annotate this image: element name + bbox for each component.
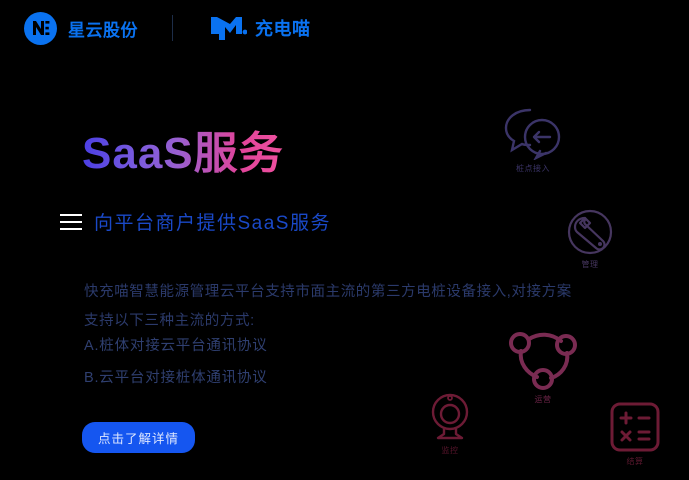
feature-monitoring: 监控 xyxy=(428,392,472,456)
page-title: SaaS服务 xyxy=(82,130,284,178)
ne-monogram-circle-icon xyxy=(24,12,57,45)
feature-operation: 运营 xyxy=(505,325,581,405)
speech-bubbles-arrow-icon xyxy=(500,104,566,160)
hamburger-icon xyxy=(60,214,82,230)
subtitle-row: 向平台商户提供SaaS服务 xyxy=(60,208,331,235)
wrench-tool-icon xyxy=(566,208,614,256)
list-item: A.桩体对接云平台通讯协议 xyxy=(84,334,268,355)
brand-right[interactable]: 充电喵 xyxy=(209,15,311,41)
saas-service-slide: 星云股份 充电喵 SaaS服务 向平台商户提供SaaS服务 快充喵智慧能源管理云… xyxy=(0,0,689,480)
feature-label: 结算 xyxy=(627,456,644,467)
list-item: B.云平台对接桩体通讯协议 xyxy=(84,366,268,387)
brand-left[interactable]: 星云股份 xyxy=(24,12,138,45)
feature-pile-access: 桩点接入 xyxy=(500,104,566,174)
feature-label: 运营 xyxy=(535,394,552,405)
feature-label: 监控 xyxy=(442,445,459,456)
feature-management: 管理 xyxy=(566,208,614,270)
brand-left-name: 星云股份 xyxy=(68,16,138,41)
page-subtitle: 向平台商户提供SaaS服务 xyxy=(94,208,331,235)
feature-label: 桩点接入 xyxy=(516,163,550,174)
network-nodes-icon xyxy=(505,325,581,391)
header-bar: 星云股份 充电喵 xyxy=(0,0,689,56)
brand-right-name: 充电喵 xyxy=(255,15,311,41)
feature-label: 管理 xyxy=(582,259,599,270)
feature-settlement: 结算 xyxy=(609,401,661,467)
learn-more-button[interactable]: 点击了解详情 xyxy=(82,422,195,453)
cat-face-mark-icon xyxy=(209,15,247,41)
camera-monitor-icon xyxy=(428,392,472,442)
calculator-icon xyxy=(609,401,661,453)
brand-separator xyxy=(172,15,173,41)
